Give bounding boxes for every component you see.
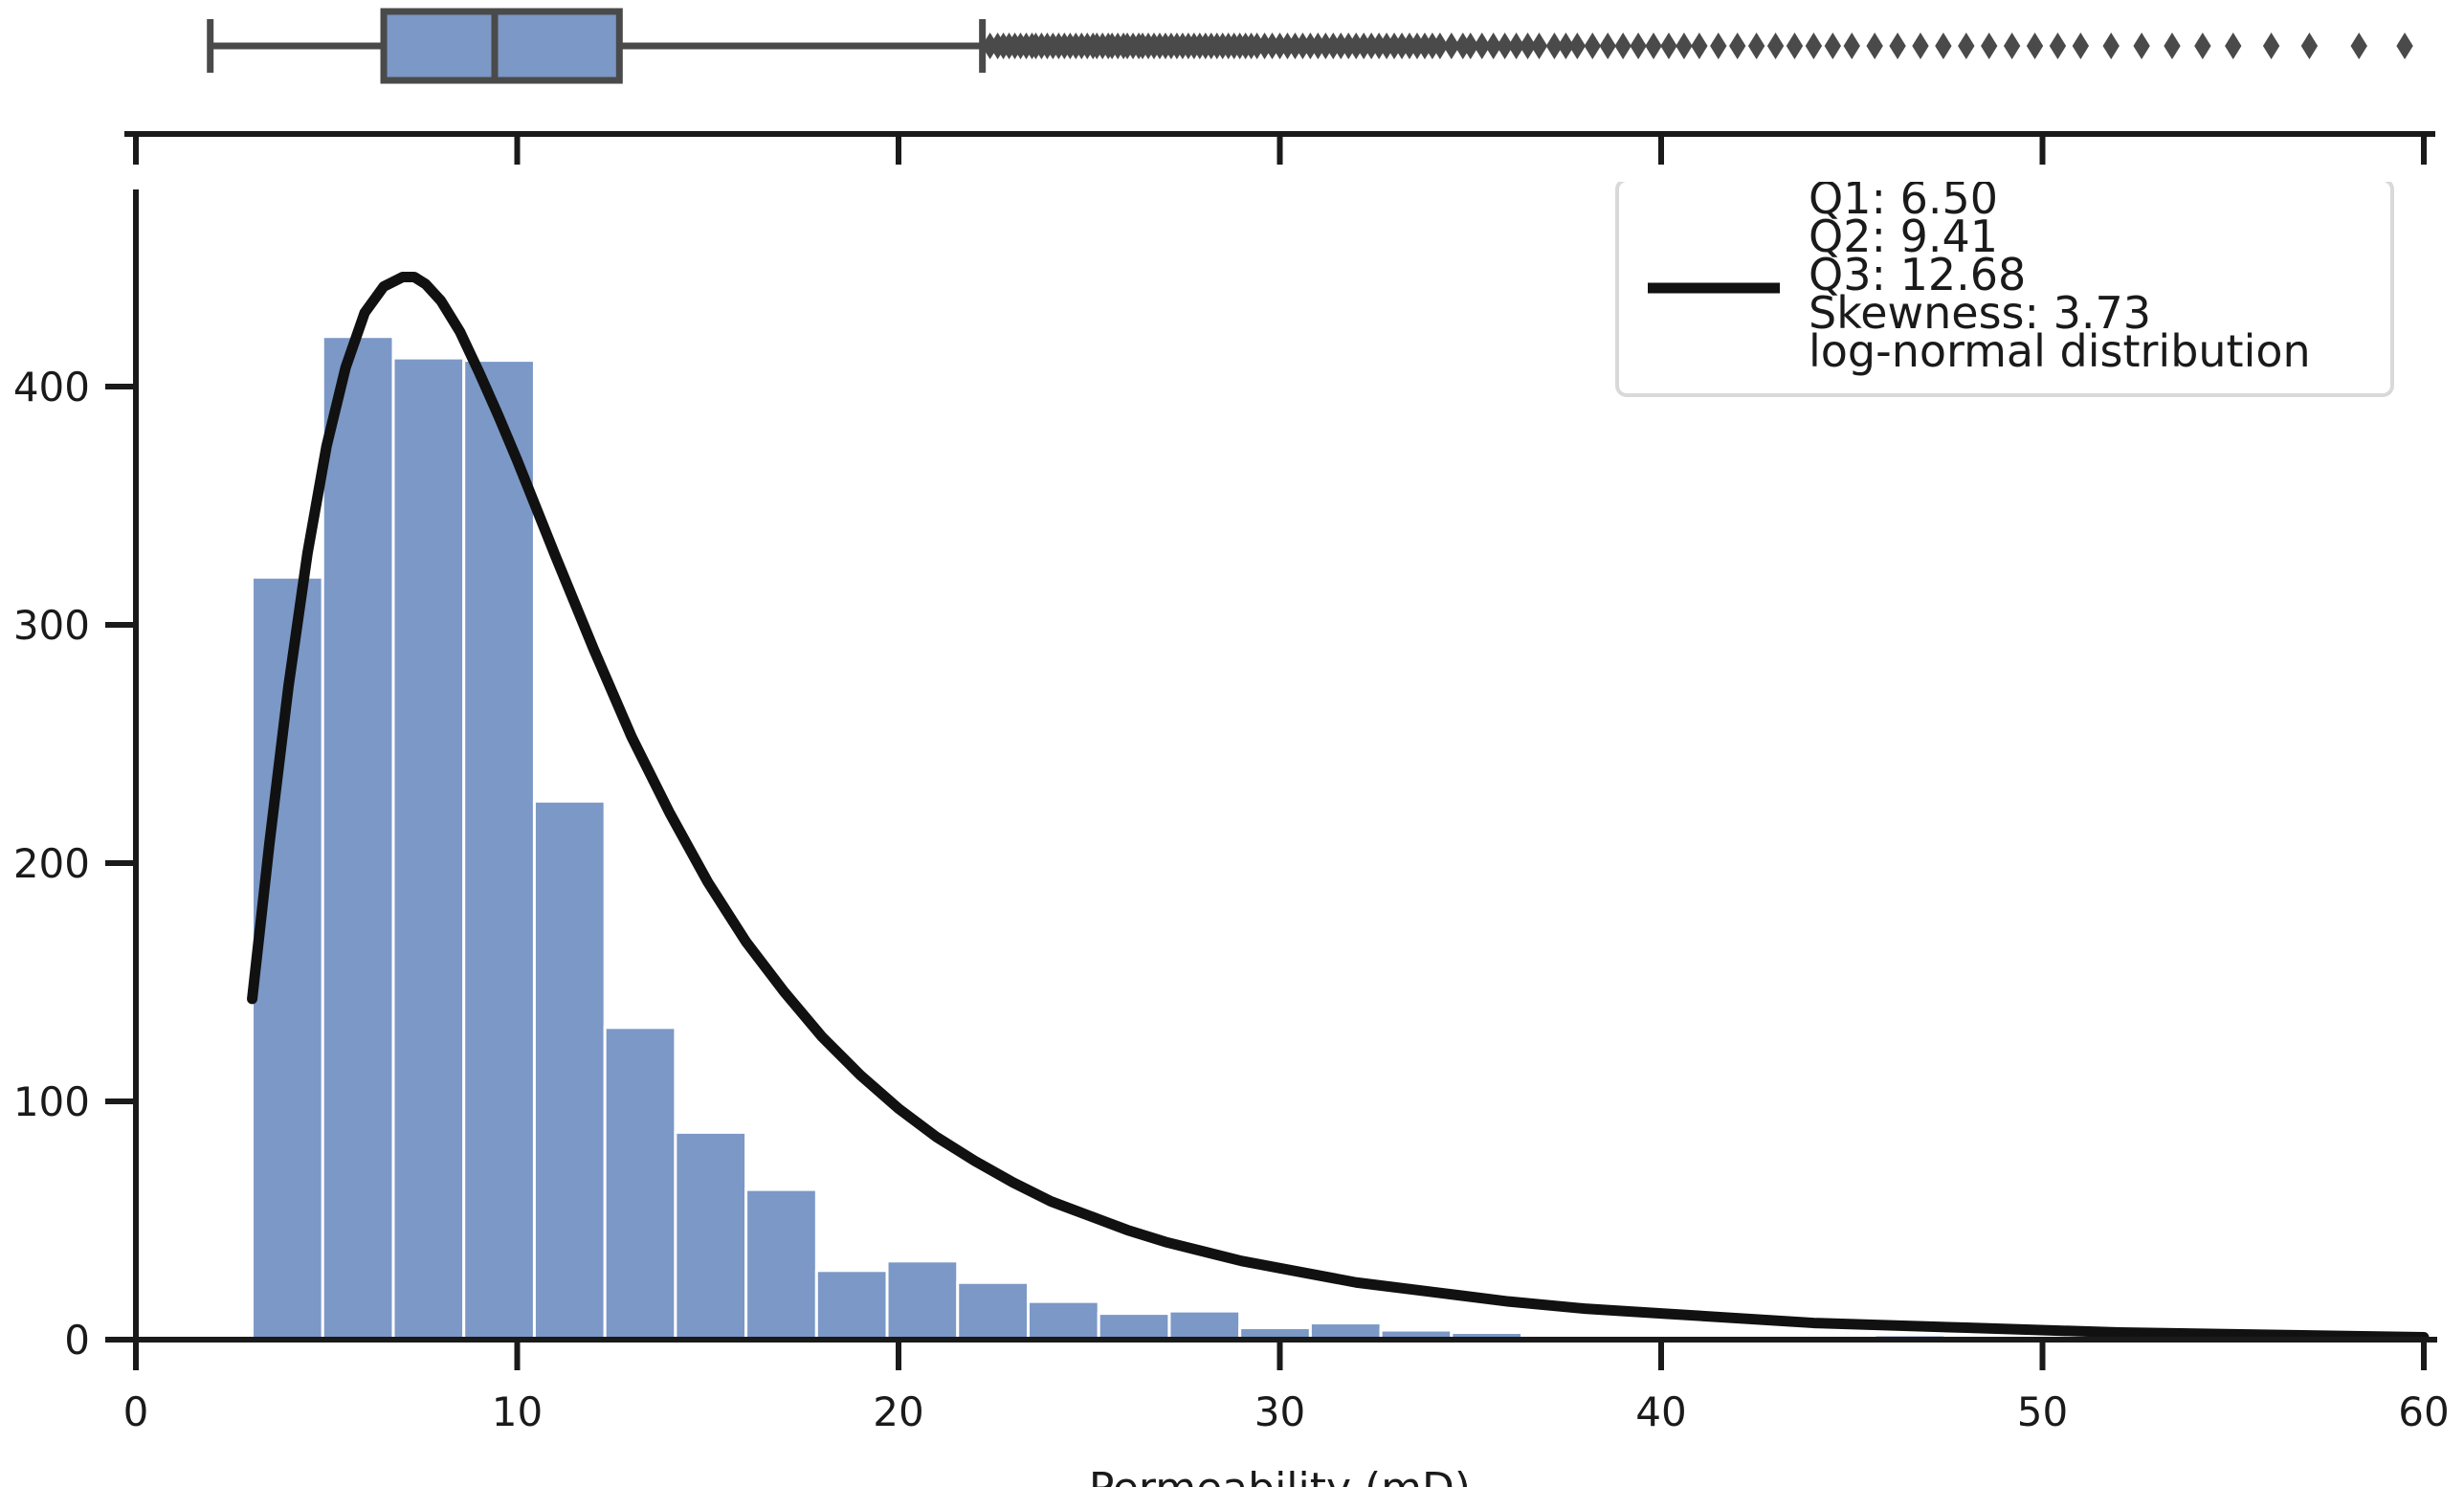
- flier-marker: [1531, 33, 1547, 59]
- flier-marker: [2351, 33, 2367, 59]
- histogram-bar: [816, 1271, 887, 1340]
- flier-marker: [2225, 33, 2241, 59]
- flier-marker: [2103, 33, 2120, 59]
- histogram-bar: [464, 361, 535, 1340]
- chart-figure: 01020304050600100200300400Permeability (…: [0, 0, 2464, 1487]
- histogram-bar: [534, 801, 605, 1340]
- flier-marker: [2073, 33, 2089, 59]
- flier-marker: [1710, 33, 1726, 59]
- flier-marker: [1600, 33, 1616, 59]
- y-tick-label: 100: [13, 1078, 90, 1125]
- flier-marker: [1981, 33, 1997, 59]
- y-tick-label: 300: [13, 602, 90, 649]
- flier-marker: [1787, 33, 1803, 59]
- flier-marker: [2004, 33, 2020, 59]
- histogram-bar: [676, 1132, 746, 1340]
- histogram-bar: [1099, 1314, 1169, 1340]
- flier-marker: [2396, 33, 2412, 59]
- y-axis-title: Number of data: [0, 698, 3, 1029]
- flier-marker: [2194, 33, 2210, 59]
- histogram-bar: [605, 1028, 676, 1340]
- flier-marker: [1767, 33, 1784, 59]
- flier-marker: [2050, 33, 2066, 59]
- y-axis: 0100200300400: [13, 364, 136, 1364]
- flier-marker: [1729, 33, 1745, 59]
- histogram-bar: [1169, 1311, 1240, 1340]
- flier-marker: [1912, 33, 1928, 59]
- x-tick-label: 10: [492, 1388, 543, 1435]
- y-tick-label: 400: [13, 364, 90, 411]
- x-tick-label: 30: [1254, 1388, 1305, 1435]
- flier-marker: [1630, 33, 1646, 59]
- flier-marker: [1691, 33, 1707, 59]
- histogram-panel: 01020304050600100200300400Permeability (…: [0, 182, 2464, 1487]
- histogram-bar: [322, 337, 393, 1340]
- flier-marker: [1958, 33, 1974, 59]
- x-axis-title: Permeability (mD): [1089, 1464, 1471, 1487]
- boxplot-panel: [0, 0, 2464, 182]
- flier-marker: [1645, 33, 1661, 59]
- boxplot-box: [384, 11, 619, 80]
- histogram-bars: [253, 337, 2016, 1340]
- flier-marker: [1748, 33, 1765, 59]
- x-tick-label: 40: [1635, 1388, 1686, 1435]
- x-tick-label: 50: [2017, 1388, 2068, 1435]
- x-axis: 0102030405060: [123, 1340, 2450, 1435]
- flier-marker: [1825, 33, 1841, 59]
- flier-marker: [1569, 33, 1586, 59]
- histogram-bar: [887, 1261, 958, 1340]
- flier-marker: [1866, 33, 1882, 59]
- flier-marker: [1660, 33, 1676, 59]
- flier-marker: [1844, 33, 1860, 59]
- legend: Q1: 6.50Q2: 9.41Q3: 12.68Skewness: 3.73l…: [1617, 182, 2392, 395]
- boxplot-fliers: [982, 33, 2413, 59]
- y-axis-title-group: Number of data: [0, 698, 3, 1029]
- flier-marker: [1889, 33, 1905, 59]
- x-tick-label: 0: [123, 1388, 149, 1435]
- flier-marker: [1676, 33, 1692, 59]
- flier-marker: [2164, 33, 2180, 59]
- legend-item-label: log-normal distribution: [1809, 325, 2311, 377]
- flier-marker: [2263, 33, 2279, 59]
- flier-marker: [2301, 33, 2318, 59]
- flier-marker: [1614, 33, 1631, 59]
- histogram-bar: [1028, 1301, 1099, 1340]
- flier-marker: [1935, 33, 1951, 59]
- flier-marker: [1806, 33, 1822, 59]
- histogram-bar: [746, 1189, 817, 1340]
- x-tick-label: 60: [2398, 1388, 2449, 1435]
- flier-marker: [2027, 33, 2043, 59]
- histogram-bar: [393, 358, 464, 1340]
- flier-marker: [2133, 33, 2149, 59]
- x-tick-label: 20: [873, 1388, 923, 1435]
- histogram-bar: [958, 1282, 1029, 1340]
- y-tick-label: 200: [13, 840, 90, 887]
- y-tick-label: 0: [64, 1317, 90, 1364]
- flier-marker: [1585, 33, 1601, 59]
